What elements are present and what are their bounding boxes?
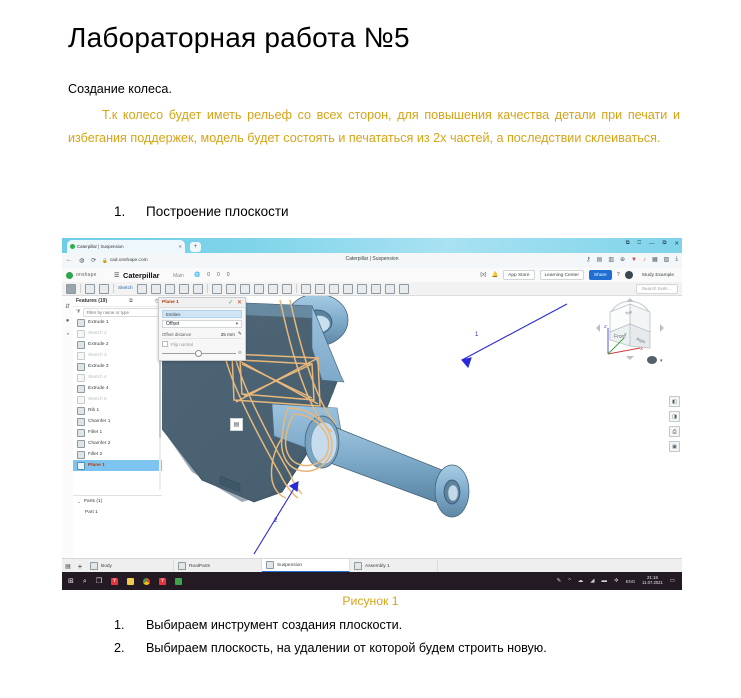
- features-filter-row: ⧩: [73, 307, 162, 317]
- volume-icon[interactable]: ◢: [590, 578, 594, 584]
- feature-label: Extrude 2: [88, 342, 109, 347]
- add-tab-button[interactable]: +: [74, 559, 86, 573]
- plane-icon[interactable]: [193, 284, 203, 294]
- view-mode-icon: [647, 356, 657, 364]
- lead-text: Создание колеса.: [68, 82, 680, 96]
- onshape-favicon: [70, 244, 75, 249]
- feature-row-selected[interactable]: Plane 1: [73, 460, 162, 471]
- taskbar-clock[interactable]: 21:16 11.07.2021: [642, 576, 663, 585]
- feature-row[interactable]: Sketch 3: [73, 350, 162, 361]
- flip-normal-checkbox[interactable]: [162, 341, 168, 347]
- sketch-button[interactable]: Sketch: [118, 286, 133, 291]
- intro-paragraph-text: Т.к колесо будет иметь рельеф со всех ст…: [68, 108, 680, 145]
- thumbs-up-count[interactable]: 0: [207, 272, 210, 278]
- search-tools-input[interactable]: Search tools…: [636, 284, 678, 294]
- fillet-icon[interactable]: [212, 284, 222, 294]
- extrude-icon: [77, 363, 85, 371]
- feature-row[interactable]: Fillet 1: [73, 427, 162, 438]
- globe-icon[interactable]: ⊕: [620, 256, 625, 263]
- feature-row[interactable]: Extrude 2: [73, 339, 162, 350]
- mirror-icon[interactable]: [315, 284, 325, 294]
- cancel-icon[interactable]: ✕: [237, 300, 242, 306]
- step-text: Выбираем инструмент создания плоскости.: [146, 618, 402, 632]
- part-studio-icon: [266, 561, 274, 569]
- feature-label: Plane 1: [88, 463, 105, 468]
- camera-icon[interactable]: ▣: [669, 441, 680, 452]
- cube-arrow-right: [660, 324, 664, 332]
- annotation-label-1: 1: [475, 332, 479, 338]
- feature-label: Sketch 5: [88, 397, 107, 402]
- extrude-icon: [77, 341, 85, 349]
- step-number: 2.: [114, 641, 146, 655]
- slider-knob[interactable]: [195, 350, 202, 357]
- offset-distance-value: 25 mm: [221, 332, 235, 337]
- notifications-icon[interactable]: 🔔: [491, 272, 498, 278]
- sweep-icon[interactable]: [165, 284, 175, 294]
- feature-row[interactable]: Fillet 2: [73, 449, 162, 460]
- onshape-mark-icon: [66, 272, 73, 279]
- avatar[interactable]: [625, 271, 633, 279]
- section-list-item: 1.Построение плоскости: [114, 204, 674, 219]
- rib-icon: [77, 407, 85, 415]
- learning-center-button[interactable]: Learning Center: [540, 270, 584, 280]
- feature-row[interactable]: Rib 1: [73, 405, 162, 416]
- intro-paragraph: Т.к колесо будет иметь рельеф со всех ст…: [68, 104, 680, 151]
- chamfer-icon: [77, 440, 85, 448]
- chevron-down-icon: ▾: [660, 358, 663, 364]
- sketch-icon: [77, 396, 85, 404]
- feature-row[interactable]: Sketch 4: [73, 372, 162, 383]
- cube-arrow-up: [626, 298, 634, 302]
- sketch-icon: [77, 352, 85, 360]
- section-list-number: 1.: [114, 204, 146, 219]
- restore-icon[interactable]: ⧉: [626, 240, 630, 247]
- figure-screenshot: Caterpillar | Suspension ✕ + ⧉ ⎕ — ⧉ ✕ ←…: [62, 238, 682, 590]
- pen-icon[interactable]: ✎: [557, 578, 562, 584]
- feature-row[interactable]: Sketch 2: [73, 328, 162, 339]
- hole-icon[interactable]: [282, 284, 292, 294]
- axis-y-label: Y: [624, 332, 627, 337]
- maximize-icon[interactable]: ⧉: [662, 240, 666, 247]
- feature-label: Chamfer 2: [88, 441, 110, 446]
- help-icon[interactable]: ?: [617, 272, 620, 278]
- feature-label: Extrude 1: [88, 320, 109, 325]
- rib-icon[interactable]: [268, 284, 278, 294]
- chevron-up-icon[interactable]: ^: [568, 578, 571, 584]
- feature-row[interactable]: Sketch 5: [73, 394, 162, 405]
- history-icon[interactable]: ◔: [64, 331, 71, 338]
- axis-z-label: Z: [604, 324, 607, 329]
- tab-label: RealParts: [189, 564, 210, 569]
- figure-caption: Рисунок 1: [0, 594, 741, 608]
- section-view-icon[interactable]: ◧: [669, 396, 680, 407]
- parts-section: ⌄Parts (1) Part 1: [73, 495, 162, 518]
- clock-date: 11.07.2021: [642, 581, 663, 585]
- flip-normal-label: Flip normal: [171, 342, 193, 347]
- appearance-icon[interactable]: [399, 284, 409, 294]
- new-tab-button[interactable]: +: [190, 242, 201, 252]
- browser-nav-bar: ← ◍ ⟳ 🔒 cad.onshape.com Caterpillar | Su…: [62, 253, 682, 269]
- feature-label: Sketch 4: [88, 375, 107, 380]
- step-number: 1.: [114, 618, 146, 632]
- browser-tab-title: Caterpillar | Suspension: [77, 244, 124, 249]
- tab-list-icon[interactable]: ▤: [62, 559, 74, 573]
- plane-type-value: Offset: [166, 321, 179, 327]
- app-store-button[interactable]: App Store: [503, 270, 534, 280]
- split-icon[interactable]: [357, 284, 367, 294]
- step-text: Выбираем плоскость, на удалении от котор…: [146, 641, 547, 655]
- globe-icon[interactable]: 🌐: [194, 272, 200, 278]
- section-list-label: Построение плоскости: [146, 204, 289, 219]
- feature-row[interactable]: Chamfer 1: [73, 416, 162, 427]
- file-explorer-icon[interactable]: [127, 578, 134, 585]
- window-controls: ⧉ ⎕ — ⧉ ✕: [626, 240, 679, 247]
- bluetooth-icon[interactable]: ✲: [614, 578, 619, 584]
- plane-dialog-header: Plane 1 ✓ ✕: [159, 298, 245, 308]
- plane-icon: [77, 462, 85, 470]
- plane-dialog[interactable]: Plane 1 ✓ ✕ Entities Offset ▾ Offset dis…: [158, 297, 246, 361]
- feature-tree-toggle-icon[interactable]: [66, 284, 76, 294]
- onshape-workspace: ⇵ ● ◔ Features (19) ⧉ ◷ ⧩ Extrude 1 Sket…: [62, 296, 682, 558]
- boolean-icon[interactable]: [329, 284, 339, 294]
- feature-label: Fillet 1: [88, 430, 102, 435]
- tab-assembly-1[interactable]: Assembly 1: [350, 559, 438, 573]
- puzzle-icon[interactable]: ▥: [608, 256, 614, 263]
- feature-label: Extrude 4: [88, 386, 109, 391]
- extrude-icon: [77, 319, 85, 327]
- toolbar-divider: [113, 284, 114, 293]
- feature-label: Sketch 3: [88, 353, 107, 358]
- minimize-icon[interactable]: —: [649, 241, 655, 247]
- key-icon[interactable]: ⚷: [586, 256, 590, 263]
- cube-arrow-down: [626, 356, 634, 360]
- share-button[interactable]: Share: [589, 270, 612, 280]
- onshape-app-bar: onshape ☰ Caterpillar Main 🌐 0 0 0 {x} 🔔…: [62, 268, 682, 283]
- pencil-icon[interactable]: ✎: [238, 331, 242, 337]
- yandex-icon[interactable]: Y: [159, 578, 166, 585]
- plane-type-select[interactable]: Offset ▾: [162, 320, 242, 328]
- features-filter-input[interactable]: [83, 308, 159, 317]
- element-tabs: ▤ + Body RealParts Suspension Assembly 1: [62, 558, 682, 573]
- steps-list: 1.Выбираем инструмент создания плоскости…: [114, 618, 694, 664]
- feature-label: Fillet 2: [88, 452, 102, 457]
- assembly-icon: [354, 562, 362, 570]
- extrude-icon: [77, 385, 85, 393]
- tab-realparts[interactable]: RealParts: [174, 559, 262, 573]
- task-view-icon[interactable]: ❒: [96, 578, 102, 585]
- sketch-icon: [77, 374, 85, 382]
- feature-row[interactable]: Extrude 1: [73, 317, 162, 328]
- document-page: Лабораторная работа №5 Создание колеса. …: [0, 0, 741, 698]
- part-label: Part 1: [85, 510, 98, 515]
- right-tool-strip: ◧ ◨ ⎙ ▣: [669, 396, 680, 452]
- flip-normal-row[interactable]: Flip normal: [162, 341, 242, 347]
- tab-label: Suspension: [277, 563, 302, 568]
- view-cube[interactable]: Front Top Right Z X Y: [594, 298, 666, 370]
- undo-icon[interactable]: [85, 284, 95, 294]
- page-title: Лабораторная работа №5: [68, 22, 410, 54]
- part-studio-icon: [90, 562, 98, 570]
- display-icon[interactable]: [385, 284, 395, 294]
- redo-icon[interactable]: [99, 284, 109, 294]
- chrome-icon[interactable]: [143, 578, 150, 585]
- feature-label: Rib 1: [88, 408, 99, 413]
- feature-row[interactable]: Chamfer 2: [73, 438, 162, 449]
- cloud-icon[interactable]: ☁: [578, 578, 584, 584]
- toolbar-divider: [296, 284, 297, 293]
- taskbar-tray: ✎ ^ ☁ ◢ ▬ ✲ ENG 21:16 11.07.2021 ▭: [557, 576, 682, 585]
- feature-label: Chamfer 1: [88, 419, 110, 424]
- chamfer-icon: [77, 418, 85, 426]
- onshape-brand-label: onshape: [76, 272, 97, 278]
- shell-icon[interactable]: [240, 284, 250, 294]
- browser-tab[interactable]: Caterpillar | Suspension ✕: [67, 240, 185, 253]
- feature-list-icon[interactable]: ⇵: [64, 303, 71, 310]
- search-icon[interactable]: ⌕: [83, 578, 87, 585]
- start-icon[interactable]: ⊞: [68, 578, 74, 585]
- workspace-name[interactable]: Main: [173, 273, 184, 279]
- user-name[interactable]: Study Example: [638, 271, 678, 279]
- step-row: 1.Выбираем инструмент создания плоскости…: [114, 618, 694, 632]
- plane-dialog-title: Plane 1: [162, 300, 179, 305]
- browser-extensions: ⚷ ▤ ▥ ⊕ ▼ ♪ ▦ ▧ ⤓: [586, 256, 678, 263]
- windows-taskbar: ⊞ ⌕ ❒ Y Y ✎ ^ ☁ ◢ ▬ ✲ ENG 21:16 11.07.20…: [62, 572, 682, 590]
- bookmark-icon[interactable]: ▧: [664, 256, 670, 263]
- browser-title-bar: Caterpillar | Suspension ✕ + ⧉ ⎕ — ⧉ ✕: [62, 238, 682, 253]
- part-studio-icon: [178, 562, 186, 570]
- offset-slider-row[interactable]: ⚙: [162, 350, 242, 356]
- features-list[interactable]: Extrude 1 Sketch 2 Extrude 2 Sketch 3 Ex…: [73, 317, 162, 493]
- variables-icon[interactable]: {x}: [480, 272, 486, 278]
- copy-count[interactable]: 0: [227, 272, 230, 278]
- print-icon[interactable]: ⎙: [669, 426, 680, 437]
- link-count[interactable]: 0: [217, 272, 220, 278]
- fillet-icon: [77, 451, 85, 459]
- split-icon[interactable]: ⎕: [638, 240, 641, 247]
- music-icon[interactable]: ♪: [643, 257, 646, 263]
- tab-label: Body: [101, 564, 112, 569]
- notifications-icon[interactable]: ▭: [670, 578, 675, 584]
- annotation-label-2: 2: [274, 518, 278, 524]
- entities-label: Entities: [166, 312, 180, 317]
- part-row[interactable]: Part 1: [73, 507, 162, 518]
- features-panel: Features (19) ⧉ ◷ ⧩ Extrude 1 Sketch 2 E…: [73, 296, 163, 558]
- offset-distance-row[interactable]: Offset distance 25 mm ✎: [162, 330, 242, 339]
- download-icon[interactable]: ⤓: [675, 256, 678, 263]
- feature-row[interactable]: Extrude 4: [73, 383, 162, 394]
- onshape-logo[interactable]: onshape: [66, 272, 97, 279]
- draft-icon[interactable]: [254, 284, 264, 294]
- rollback-icon[interactable]: ⧉: [129, 298, 133, 304]
- onshape-feature-toolbar: Sketch Search tools…: [62, 282, 682, 296]
- filter-icon[interactable]: ⧩: [76, 309, 80, 315]
- features-header: Features (19) ⧉ ◷: [73, 296, 162, 307]
- render-icon[interactable]: ◨: [669, 411, 680, 422]
- measure-icon[interactable]: [371, 284, 381, 294]
- extrude-icon[interactable]: [137, 284, 147, 294]
- feature-label: Sketch 2: [88, 331, 107, 336]
- menu-icon[interactable]: ☰: [114, 272, 119, 279]
- transform-icon[interactable]: [343, 284, 353, 294]
- parts-header[interactable]: ⌄Parts (1): [73, 496, 162, 507]
- pattern-icon[interactable]: [301, 284, 311, 294]
- step-row: 2.Выбираем плоскость, на удалении от кот…: [114, 641, 694, 655]
- network-icon[interactable]: ▬: [602, 578, 608, 584]
- window-close-icon[interactable]: ✕: [674, 241, 679, 247]
- feature-label: Extrude 3: [88, 364, 109, 369]
- document-counters: 🌐 0 0 0: [194, 272, 230, 278]
- toolbar-divider: [80, 284, 81, 293]
- app-bar-right: {x} 🔔 App Store Learning Center Share ? …: [480, 270, 678, 280]
- close-icon[interactable]: ✕: [178, 244, 182, 250]
- language-indicator[interactable]: ENG: [626, 579, 636, 584]
- accept-icon[interactable]: ✓: [228, 300, 233, 306]
- axis-x-label: X: [640, 346, 643, 351]
- taskbar-left: ⊞ ⌕ ❒ Y Y: [62, 578, 182, 585]
- folder-icon[interactable]: ▤: [597, 256, 603, 263]
- entities-field[interactable]: Entities: [162, 310, 242, 318]
- chevron-down-icon: ⌄: [77, 499, 81, 505]
- store-icon[interactable]: [175, 578, 182, 585]
- offset-slider[interactable]: [162, 353, 236, 354]
- tab-label: Assembly 1: [365, 564, 390, 569]
- revolve-icon[interactable]: [151, 284, 161, 294]
- tab-body[interactable]: Body: [86, 559, 174, 573]
- gear-icon[interactable]: ⚙: [238, 350, 242, 356]
- display-state-icon[interactable]: ▤: [230, 418, 243, 431]
- cube-arrow-left: [596, 324, 600, 332]
- features-header-label: Features (19): [76, 298, 107, 304]
- tab-suspension[interactable]: Suspension: [262, 559, 350, 573]
- document-name[interactable]: Caterpillar: [123, 271, 160, 280]
- feature-row[interactable]: Extrude 3: [73, 361, 162, 372]
- loft-icon[interactable]: [179, 284, 189, 294]
- parts-header-label: Parts (1): [84, 499, 102, 504]
- chamfer-icon[interactable]: [226, 284, 236, 294]
- yandex-icon[interactable]: ▼: [631, 257, 637, 263]
- offset-distance-label: Offset distance: [162, 332, 191, 337]
- comments-icon[interactable]: ●: [64, 317, 71, 324]
- chevron-down-icon: ▾: [236, 321, 238, 327]
- fillet-icon: [77, 429, 85, 437]
- toolbar-divider: [207, 284, 208, 293]
- collections-icon[interactable]: ▦: [652, 256, 658, 263]
- sketch-icon: [77, 330, 85, 338]
- yandex-browser-icon[interactable]: Y: [111, 578, 118, 585]
- lower-tube: [305, 416, 469, 517]
